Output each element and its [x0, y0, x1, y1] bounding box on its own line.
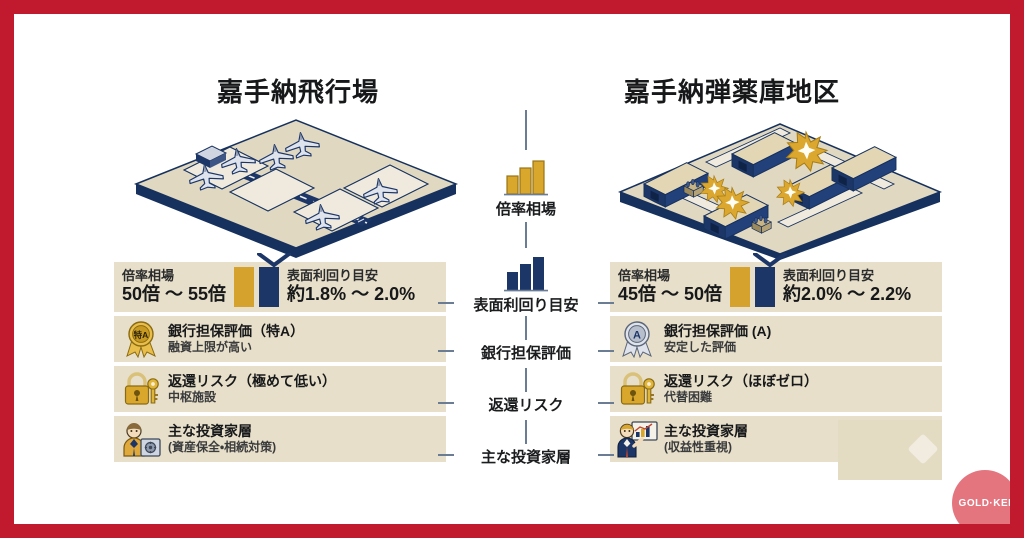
- right-feature-row-risk: 返還リスク（ほぼゼロ） 代替困難: [610, 366, 942, 412]
- dash-right-collateral: [598, 350, 614, 352]
- center-label-risk: 返還リスク: [446, 394, 606, 415]
- gold-bar-chart-icon: [446, 154, 606, 198]
- right-risk-title: 返還リスク（ほぼゼロ）: [664, 373, 936, 391]
- connector-line-2: [525, 316, 527, 340]
- left-collateral-title: 銀行担保評価（特A）: [168, 323, 440, 341]
- right-collateral-subtitle: 安定した評価: [664, 340, 936, 355]
- padlock-key-icon: [120, 370, 162, 408]
- center-label-investor: 主な投資家層: [446, 446, 606, 467]
- right-feature-text-collateral: 銀行担保評価 (A) 安定した評価: [664, 323, 936, 356]
- left-yield-value: 約1.8% ～ 2.0%: [287, 284, 415, 305]
- poster-canvas: 嘉手納飛行場 嘉手納弾薬庫地区: [14, 14, 1010, 524]
- poster-frame: 嘉手納飛行場 嘉手納弾薬庫地区: [0, 0, 1024, 538]
- left-feature-text-risk: 返還リスク（極めて低い） 中枢施設: [168, 373, 440, 406]
- left-risk-title: 返還リスク（極めて低い）: [168, 373, 440, 391]
- medal-grade-text: 特A: [134, 330, 149, 340]
- dash-right-investor: [598, 454, 614, 456]
- right-yield-label: 表面利回り目安: [783, 269, 911, 284]
- gold-swatch: [234, 267, 254, 307]
- left-column-title: 嘉手納飛行場: [88, 72, 508, 109]
- silver-medal-ribbon-icon: A: [616, 320, 658, 358]
- center-item-yield: 表面利回り目安: [446, 250, 606, 315]
- right-swatch-group: [730, 267, 775, 307]
- left-yield-label: 表面利回り目安: [287, 269, 415, 284]
- center-label-yield: 表面利回り目安: [446, 294, 606, 315]
- gold-swatch: [730, 267, 750, 307]
- brand-logo-text: GOLD·KEI: [959, 498, 1010, 509]
- dash-left-investor: [438, 454, 454, 456]
- dash-left-yield: [438, 302, 454, 304]
- presenter-chart-icon: [616, 420, 658, 458]
- right-yield-block: 表面利回り目安 約2.0% ～ 2.2%: [783, 269, 911, 305]
- left-multiple-value: 50倍 ～ 55倍: [122, 284, 226, 305]
- center-label-collateral: 銀行担保評価: [446, 342, 606, 363]
- navy-bar-chart-icon: [446, 250, 606, 294]
- left-investor-title: 主な投資家層: [168, 423, 440, 441]
- padlock-key-icon: [616, 370, 658, 408]
- right-multiple-label: 倍率相場: [618, 269, 722, 284]
- right-collateral-title: 銀行担保評価 (A): [664, 323, 936, 341]
- dash-right-yield: [598, 302, 614, 304]
- center-item-investor: 主な投資家層: [446, 446, 606, 467]
- right-column-title: 嘉手納弾薬庫地区: [522, 72, 942, 109]
- right-feature-text-risk: 返還リスク（ほぼゼロ） 代替困難: [664, 373, 936, 406]
- left-investor-subtitle: (資産保全・相続対策): [168, 440, 440, 455]
- dash-right-risk: [598, 402, 614, 404]
- left-yield-block: 表面利回り目安 約1.8% ～ 2.0%: [287, 269, 415, 305]
- left-feature-text-investor: 主な投資家層 (資産保全・相続対策): [168, 423, 440, 456]
- connector-line-top: [525, 110, 527, 150]
- right-feature-row-collateral: A 銀行担保評価 (A) 安定した評価: [610, 316, 942, 362]
- left-multiple-block: 倍率相場 50倍 ～ 55倍: [122, 269, 226, 305]
- center-item-multiple: 倍率相場: [446, 154, 606, 219]
- connector-line-1: [525, 222, 527, 248]
- brand-logo-badge: GOLD·KEI: [952, 470, 1010, 524]
- center-label-multiple: 倍率相場: [446, 198, 606, 219]
- left-feature-row-risk: 返還リスク（極めて低い） 中枢施設: [114, 366, 446, 412]
- medal-grade-text: A: [633, 330, 641, 342]
- left-panel: 倍率相場 50倍 ～ 55倍 表面利回り目安 約1.8% ～ 2.0%: [114, 262, 446, 466]
- right-metric-row: 倍率相場 45倍 ～ 50倍 表面利回り目安 約2.0% ～ 2.2%: [610, 262, 942, 312]
- right-multiple-value: 45倍 ～ 50倍: [618, 284, 722, 305]
- connector-line-4: [525, 420, 527, 444]
- center-comparison-axis: 倍率相場 表面利回り目安: [446, 110, 606, 500]
- left-collateral-subtitle: 融資上限が高い: [168, 340, 440, 355]
- left-swatch-group: [234, 267, 279, 307]
- right-multiple-block: 倍率相場 45倍 ～ 50倍: [618, 269, 722, 305]
- left-risk-subtitle: 中枢施設: [168, 390, 440, 405]
- center-item-collateral: 銀行担保評価: [446, 342, 606, 363]
- left-feature-row-investor: 主な投資家層 (資産保全・相続対策): [114, 416, 446, 462]
- investor-safe-icon: [120, 420, 162, 458]
- dash-left-risk: [438, 402, 454, 404]
- dash-left-collateral: [438, 350, 454, 352]
- left-feature-text-collateral: 銀行担保評価（特A） 融資上限が高い: [168, 323, 440, 356]
- center-item-risk: 返還リスク: [446, 394, 606, 415]
- connector-line-3: [525, 368, 527, 392]
- left-multiple-label: 倍率相場: [122, 269, 226, 284]
- gold-medal-ribbon-icon: 特A: [120, 320, 162, 358]
- left-metric-row: 倍率相場 50倍 ～ 55倍 表面利回り目安 約1.8% ～ 2.0%: [114, 262, 446, 312]
- ammo-depot-illustration: [610, 110, 950, 260]
- left-feature-row-collateral: 特A 銀行担保評価（特A） 融資上限が高い: [114, 316, 446, 362]
- navy-swatch: [755, 267, 775, 307]
- airfield-illustration: [126, 110, 466, 260]
- right-yield-value: 約2.0% ～ 2.2%: [783, 284, 911, 305]
- navy-swatch: [259, 267, 279, 307]
- right-risk-subtitle: 代替困難: [664, 390, 936, 405]
